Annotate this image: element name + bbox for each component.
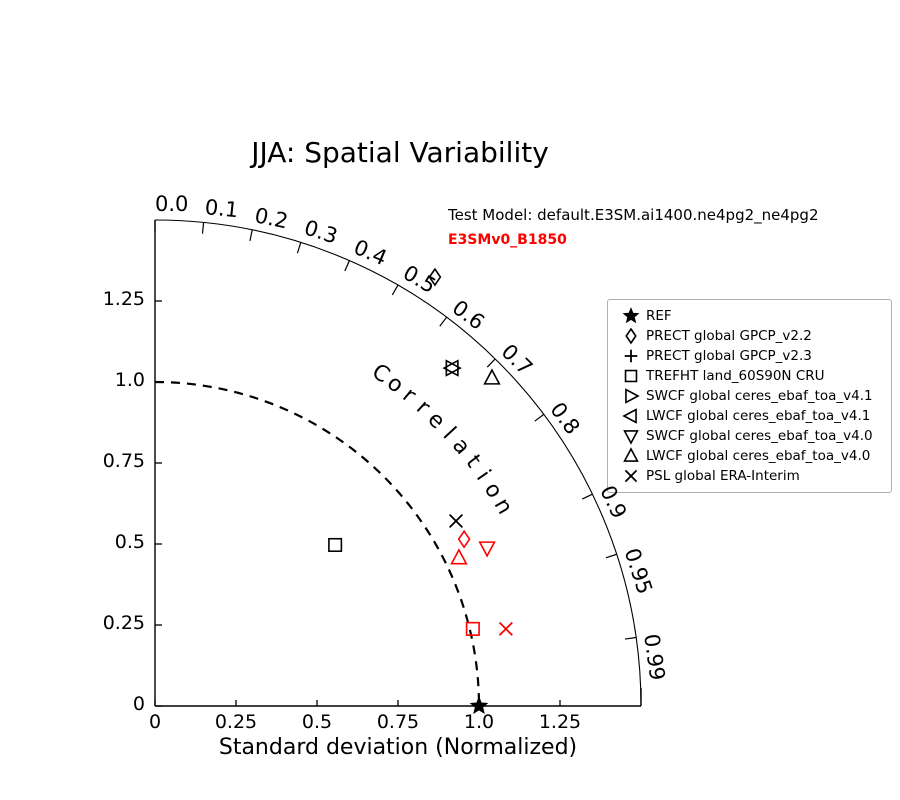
outer-correlation-arc (155, 220, 641, 706)
legend-item-label: PSL global ERA-Interim (646, 468, 800, 484)
data-point-marker (459, 531, 470, 547)
y-axis-tick-label: 0.75 (0, 450, 145, 472)
legend-item-label: SWCF global ceres_ebaf_toa_v4.0 (646, 428, 873, 444)
data-point-marker (329, 539, 341, 551)
legend-item-label: PRECT global GPCP_v2.3 (646, 348, 812, 364)
legend-item-label: LWCF global ceres_ebaf_toa_v4.0 (646, 448, 870, 464)
y-axis-tick-label: 1.25 (0, 288, 145, 310)
correlation-tick (202, 222, 203, 233)
plus-icon (616, 346, 646, 366)
x-axis-tick-label: 0.75 (368, 711, 428, 733)
y-axis-tick-label: 0.5 (0, 531, 145, 553)
correlation-tick (606, 554, 617, 558)
correlation-tick (345, 261, 350, 271)
triangle-down-icon (616, 426, 646, 446)
data-point-marker (499, 622, 512, 635)
data-point-marker (480, 542, 495, 556)
x-axis-tick-label: 0.5 (287, 711, 347, 733)
x-icon (616, 466, 646, 486)
correlation-tick (440, 317, 447, 326)
taylor-diagram-figure: JJA: Spatial Variability Test Model: def… (0, 0, 900, 800)
y-axis-tick-label: 0.25 (0, 612, 145, 634)
legend-item[interactable]: SWCF global ceres_ebaf_toa_v4.0 (616, 426, 883, 446)
correlation-tick-label: 0.1 (204, 195, 240, 222)
triangle-up-icon (616, 446, 646, 466)
x-axis-tick-label: 1.0 (449, 711, 509, 733)
x-axis-tick-label: 0.25 (206, 711, 266, 733)
data-point-marker (452, 550, 467, 564)
x-axis-title: Standard deviation (Normalized) (155, 735, 641, 760)
legend[interactable]: REFPRECT global GPCP_v2.2PRECT global GP… (607, 299, 892, 493)
correlation-tick (625, 637, 636, 639)
correlation-tick (392, 285, 398, 295)
triangle-left-icon (616, 406, 646, 426)
data-point-marker (467, 623, 479, 635)
triangle-right-icon (616, 386, 646, 406)
legend-item[interactable]: TREFHT land_60S90N CRU (616, 366, 883, 386)
star-icon (616, 306, 646, 326)
correlation-tick (250, 230, 252, 241)
y-axis-tick-label: 0 (0, 693, 145, 715)
legend-item-label: SWCF global ceres_ebaf_toa_v4.1 (646, 388, 873, 404)
legend-item[interactable]: REF (616, 306, 883, 326)
square-icon (616, 366, 646, 386)
legend-item-label: PRECT global GPCP_v2.2 (646, 328, 812, 344)
legend-item[interactable]: PRECT global GPCP_v2.3 (616, 346, 883, 366)
y-axis-tick-label: 1.0 (0, 369, 145, 391)
data-point-marker (450, 515, 463, 528)
correlation-tick (582, 494, 592, 499)
legend-item[interactable]: SWCF global ceres_ebaf_toa_v4.1 (616, 386, 883, 406)
legend-item[interactable]: LWCF global ceres_ebaf_toa_v4.0 (616, 446, 883, 466)
data-point-marker (485, 370, 500, 384)
legend-item[interactable]: PRECT global GPCP_v2.2 (616, 326, 883, 346)
correlation-tick (487, 359, 495, 367)
legend-item-label: LWCF global ceres_ebaf_toa_v4.1 (646, 408, 870, 424)
correlation-tick-label: 0.0 (155, 192, 188, 216)
correlation-tick (535, 414, 544, 421)
legend-item[interactable]: LWCF global ceres_ebaf_toa_v4.1 (616, 406, 883, 426)
x-axis-tick-label: 1.25 (530, 711, 590, 733)
correlation-tick (297, 242, 300, 253)
legend-item[interactable]: PSL global ERA-Interim (616, 466, 883, 486)
legend-item-label: REF (646, 308, 672, 324)
legend-item-label: TREFHT land_60S90N CRU (646, 368, 825, 384)
diamond-icon (616, 326, 646, 346)
